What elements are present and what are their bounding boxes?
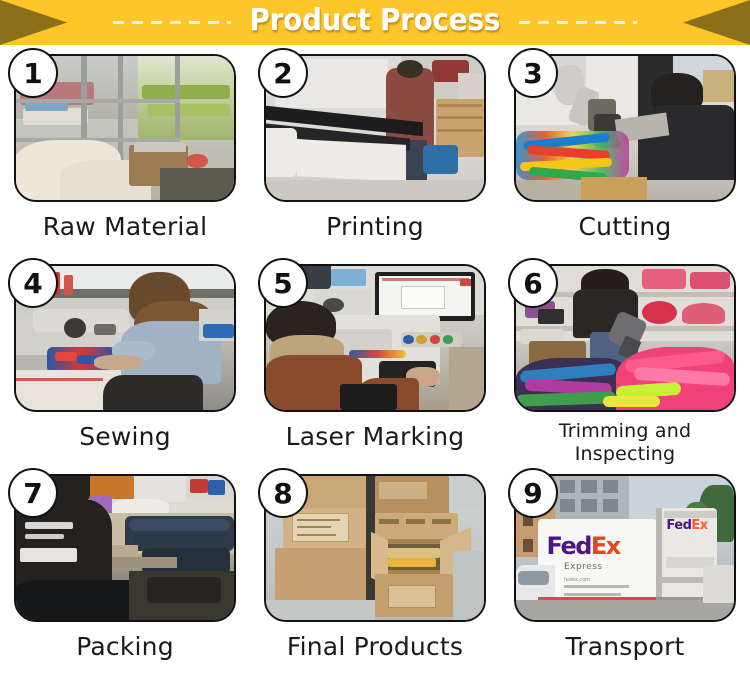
page-title: Product Process [250,6,501,39]
page-banner: Product Process [0,0,750,45]
step-1-badge: 1 [8,48,58,98]
banner-dash-right [519,21,637,24]
step-6-label: Trimming and Inspecting [559,420,692,465]
step-7-label: Packing [76,634,174,660]
banner-dash-left [113,21,231,24]
process-step-grid: 1 Raw Material [0,45,750,675]
step-6-label-line-2: Inspecting [559,443,692,465]
step-5-badge: 5 [258,258,308,308]
process-step-1[interactable]: 1 Raw Material [0,45,250,255]
step-8-label: Final Products [287,634,463,660]
step-3-label: Cutting [579,214,672,240]
step-4-badge: 4 [8,258,58,308]
process-step-2[interactable]: 2 Printing [250,45,500,255]
step-2-label: Printing [326,214,424,240]
step-8-badge: 8 [258,468,308,518]
step-2-badge: 2 [258,48,308,98]
step-1-label: Raw Material [43,214,208,240]
process-step-5[interactable]: 5 Laser Marking [250,255,500,465]
process-step-9[interactable]: FedEx FedEx Express fedex.com 9 Transpor… [500,465,750,675]
process-step-6[interactable]: 6 Trimming and Inspecting [500,255,750,465]
step-7-badge: 7 [8,468,58,518]
step-3-badge: 3 [508,48,558,98]
step-9-label: Transport [565,634,684,660]
step-6-badge: 6 [508,258,558,308]
step-4-label: Sewing [79,424,171,450]
process-step-7[interactable]: 7 Packing [0,465,250,675]
process-step-3[interactable]: 3 Cutting [500,45,750,255]
step-5-label: Laser Marking [286,424,465,450]
process-step-4[interactable]: 4 Sewing [0,255,250,465]
step-6-label-line-1: Trimming and [559,420,692,442]
step-9-badge: 9 [508,468,558,518]
process-step-8[interactable]: 8 Final Products [250,465,500,675]
